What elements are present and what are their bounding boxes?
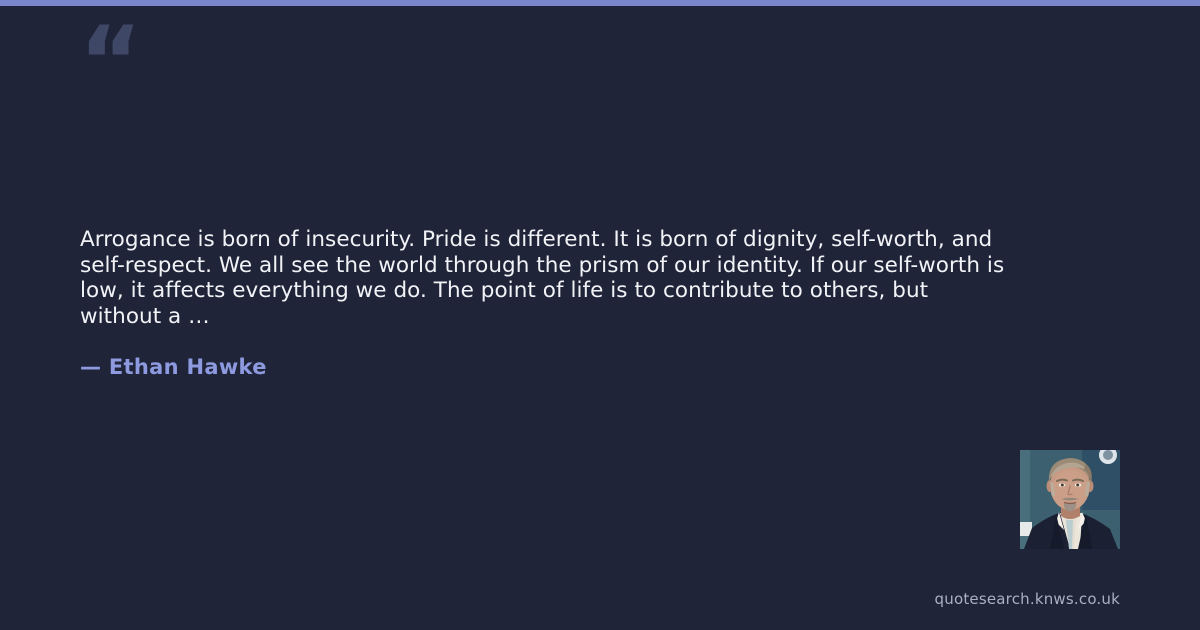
quote-card: “ Arrogance is born of insecurity. Pride… — [0, 0, 1200, 630]
author-portrait-image — [1020, 450, 1120, 549]
site-url-label: quotesearch.knws.co.uk — [935, 590, 1120, 608]
author-portrait — [1020, 450, 1120, 549]
quote-attribution: — Ethan Hawke — [80, 355, 267, 379]
quote-text: Arrogance is born of insecurity. Pride i… — [80, 227, 1010, 329]
open-quote-icon: “ — [79, 14, 140, 110]
top-accent-bar — [0, 0, 1200, 6]
quote-body: Arrogance is born of insecurity. Pride i… — [80, 227, 1010, 329]
